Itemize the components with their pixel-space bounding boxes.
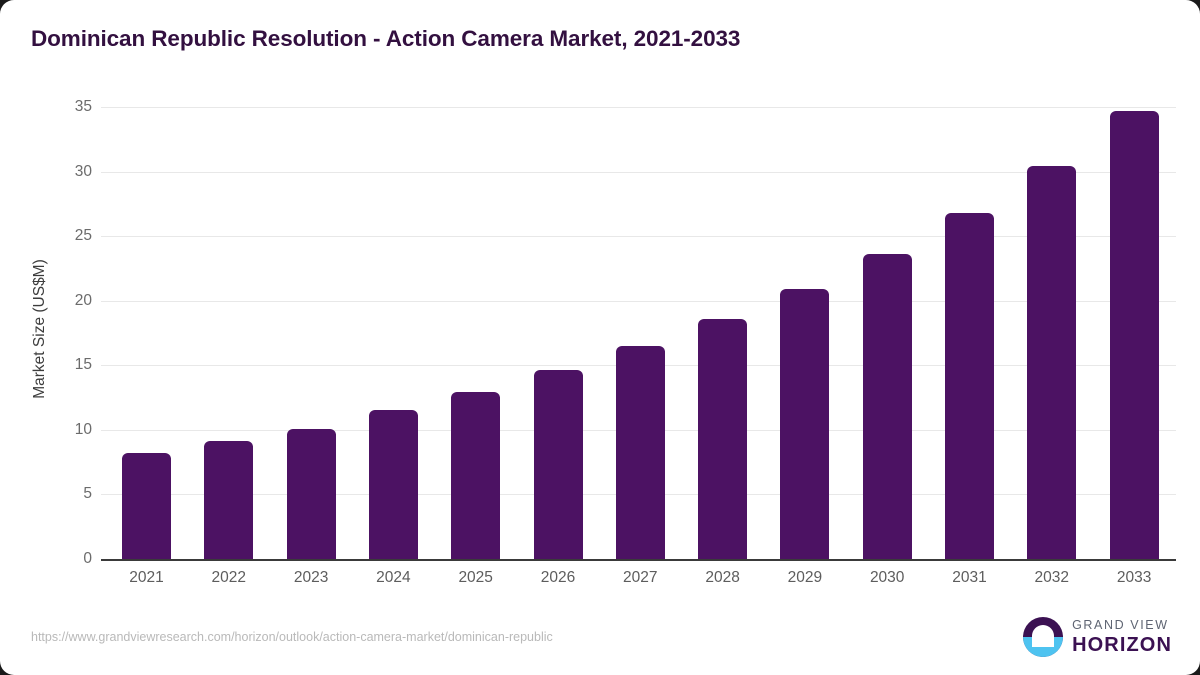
x-axis-tick-label: 2028 — [678, 569, 768, 587]
x-axis-tick-label: 2026 — [513, 569, 603, 587]
bar[interactable] — [369, 410, 418, 559]
bar[interactable] — [1110, 111, 1159, 559]
bar[interactable] — [698, 319, 747, 559]
brand-logo: GRAND VIEW HORIZON — [1023, 617, 1172, 657]
bar[interactable] — [863, 254, 912, 559]
gridline — [101, 301, 1176, 302]
y-axis-tick-label: 25 — [56, 227, 92, 245]
bar[interactable] — [204, 441, 253, 559]
x-axis-tick-label: 2031 — [925, 569, 1015, 587]
y-axis-tick-label: 10 — [56, 421, 92, 439]
x-axis-tick-label: 2023 — [266, 569, 356, 587]
bar[interactable] — [451, 392, 500, 559]
bar[interactable] — [616, 346, 665, 559]
y-axis-tick-label: 0 — [56, 550, 92, 568]
source-url[interactable]: https://www.grandviewresearch.com/horizo… — [31, 630, 553, 644]
logo-top-text: GRAND VIEW — [1072, 619, 1172, 632]
y-axis-tick-label: 5 — [56, 485, 92, 503]
bar[interactable] — [122, 453, 171, 559]
x-axis-tick-label: 2032 — [1007, 569, 1097, 587]
bar[interactable] — [1027, 166, 1076, 559]
x-axis-tick-label: 2022 — [184, 569, 274, 587]
y-axis-tick-label: 35 — [56, 98, 92, 116]
plot-area: Market Size (US$M) 05101520253035 202120… — [0, 0, 1200, 675]
x-axis-tick-label: 2027 — [595, 569, 685, 587]
x-axis-tick-label: 2024 — [348, 569, 438, 587]
y-axis-title: Market Size (US$M) — [31, 129, 49, 529]
y-axis-tick-label: 15 — [56, 356, 92, 374]
logo-sun-shape — [1032, 625, 1054, 647]
bar[interactable] — [945, 213, 994, 559]
logo-bottom-text: HORIZON — [1072, 635, 1172, 655]
chart-card: Dominican Republic Resolution - Action C… — [0, 0, 1200, 675]
gridline — [101, 107, 1176, 108]
bar[interactable] — [287, 429, 336, 559]
gridline — [101, 236, 1176, 237]
y-axis-tick-label: 30 — [56, 163, 92, 181]
x-axis-tick-label: 2030 — [842, 569, 932, 587]
x-axis-tick-label: 2025 — [431, 569, 521, 587]
horizon-sun-icon — [1023, 617, 1063, 657]
gridline — [101, 172, 1176, 173]
x-axis-tick-label: 2021 — [102, 569, 192, 587]
logo-wordmark: GRAND VIEW HORIZON — [1072, 619, 1172, 656]
x-axis-tick-label: 2033 — [1089, 569, 1179, 587]
y-axis-tick-label: 20 — [56, 292, 92, 310]
bar[interactable] — [534, 370, 583, 559]
x-axis-line — [101, 559, 1176, 561]
x-axis-tick-label: 2029 — [760, 569, 850, 587]
bar[interactable] — [780, 289, 829, 559]
